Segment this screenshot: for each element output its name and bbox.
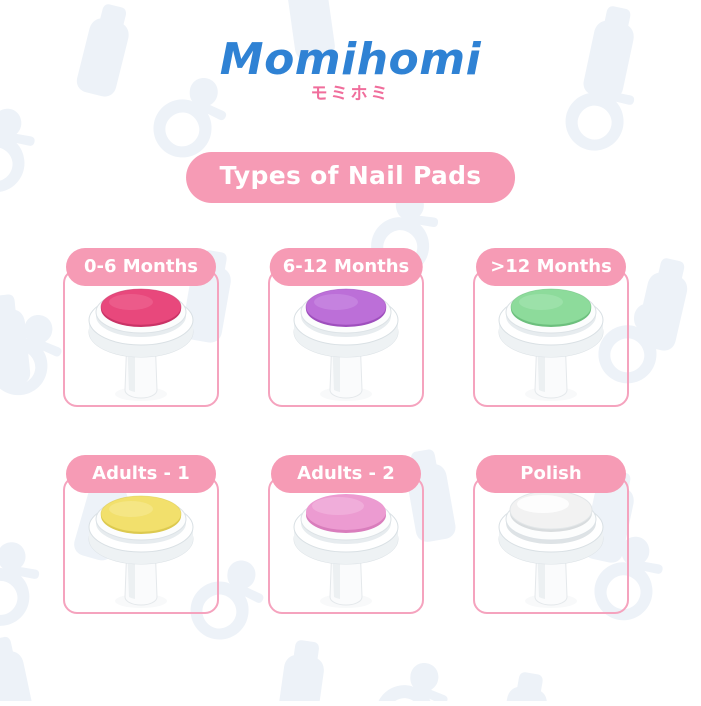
nail-pad-image-adults-1 [63,481,219,611]
card-label-text: Adults - 2 [297,465,395,483]
nail-pad-image-polish [473,481,629,611]
card-label-banner: Polish [476,455,626,493]
nail-pad-image-6-12-months [268,274,424,404]
nail-pad-image-over-12-months [473,274,629,404]
page-title-banner: Types of Nail Pads [186,152,516,203]
card-label-text: Adults - 1 [92,465,190,483]
page-title: Types of Nail Pads [220,161,482,190]
card-label-text: >12 Months [490,258,612,276]
nail-pad-image-adults-2 [268,481,424,611]
card-label-text: 6-12 Months [283,258,410,276]
card-label-banner: 6-12 Months [270,248,423,286]
nail-pad-card[interactable]: >12 Months [466,248,636,413]
nail-pad-card[interactable]: 0-6 Months [56,248,226,413]
brand-subtitle-katakana: モミホミ [0,86,701,103]
nail-pad-image-0-6-months [63,274,219,404]
card-label-banner: Adults - 1 [66,455,216,493]
brand-wordmark: Momihomi [0,38,701,82]
nail-pad-grid: 0-6 Months [56,248,646,620]
card-label-text: Polish [520,465,581,483]
card-label-banner: >12 Months [476,248,626,286]
card-label-banner: 0-6 Months [66,248,216,286]
nail-pad-card[interactable]: Polish [466,455,636,620]
card-label-text: 0-6 Months [84,258,198,276]
card-label-banner: Adults - 2 [271,455,421,493]
brand-logo: Momihomi モミホミ [0,38,701,103]
nail-pad-card[interactable]: 6-12 Months [261,248,431,413]
nail-pad-card[interactable]: Adults - 1 [56,455,226,620]
nail-pad-card[interactable]: Adults - 2 [261,455,431,620]
